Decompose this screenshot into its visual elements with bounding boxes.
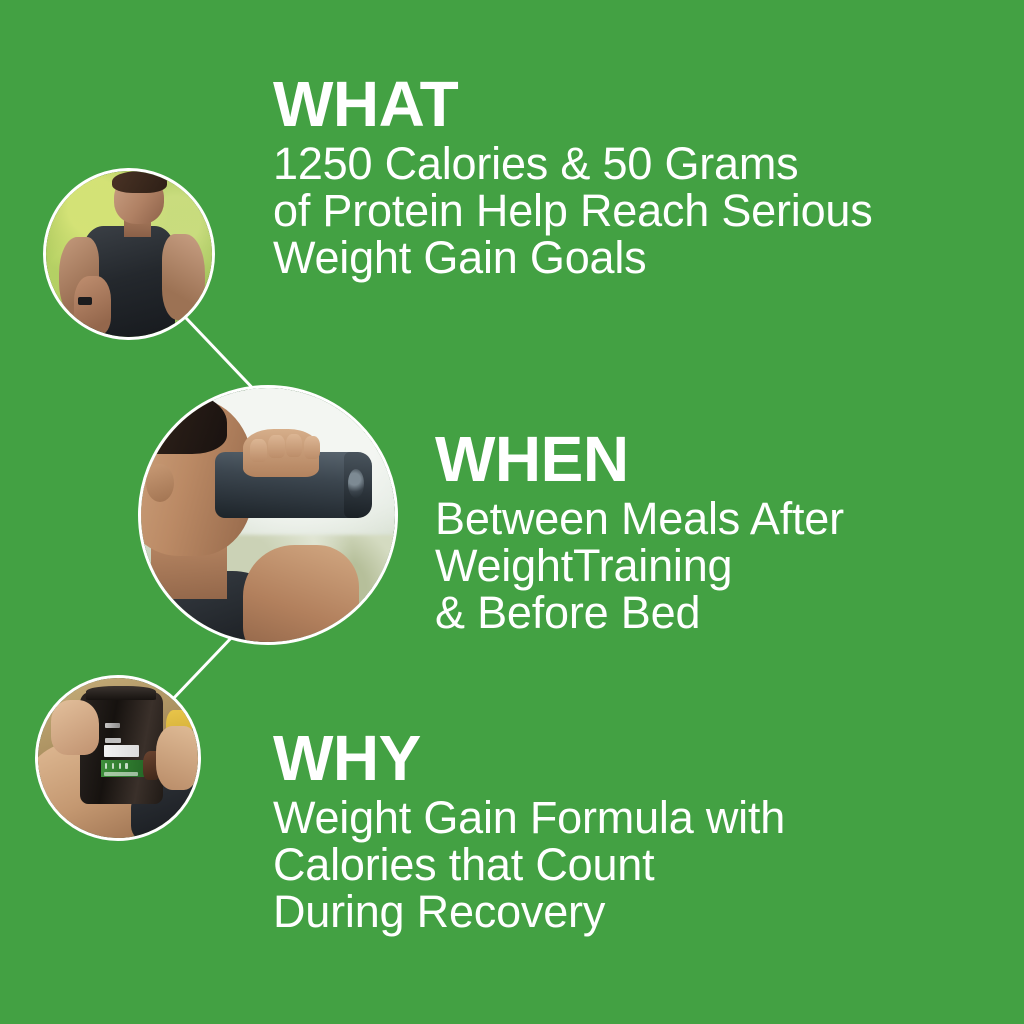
product-hand-right xyxy=(156,726,198,790)
product-hand-top xyxy=(51,700,99,754)
shaker-finger-3 xyxy=(286,434,303,457)
infographic-canvas: WHAT 1250 Calories & 50 Grams of Protein… xyxy=(0,0,1024,1024)
optimum-nutrition-logo xyxy=(105,723,120,729)
shaker-finger-2 xyxy=(268,435,285,458)
label-mass-text xyxy=(104,745,139,757)
product-photo xyxy=(35,675,201,841)
label-badge-3 xyxy=(119,763,122,769)
runner-forearm xyxy=(74,276,111,336)
label-flavor-bar xyxy=(104,772,139,775)
runner-hair xyxy=(112,171,167,193)
shaker-athlete-arm xyxy=(243,545,360,642)
what-line-2: of Protein Help Reach Serious xyxy=(273,187,873,234)
label-badge-4 xyxy=(125,763,128,769)
runner-right-arm xyxy=(162,234,205,320)
when-line-3: & Before Bed xyxy=(435,589,844,636)
product-photo-inner xyxy=(38,678,198,838)
runner-photo-inner xyxy=(46,171,212,337)
shaker-athlete-ear xyxy=(146,464,174,502)
what-line-1: 1250 Calories & 50 Grams xyxy=(273,140,873,187)
section-why: WHY Weight Gain Formula with Calories th… xyxy=(273,726,785,935)
runner-photo xyxy=(43,168,215,340)
section-what: WHAT 1250 Calories & 50 Grams of Protein… xyxy=(273,72,873,281)
shaker-photo xyxy=(138,385,398,645)
why-line-3: During Recovery xyxy=(273,888,785,935)
heading-when: WHEN xyxy=(435,427,844,491)
heading-what: WHAT xyxy=(273,72,873,136)
label-badge-2 xyxy=(112,763,115,769)
what-line-3: Weight Gain Goals xyxy=(273,234,873,281)
when-line-2: WeightTraining xyxy=(435,542,844,589)
label-green-band xyxy=(101,760,144,778)
why-line-1: Weight Gain Formula with xyxy=(273,794,785,841)
why-line-2: Calories that Count xyxy=(273,841,785,888)
when-line-1: Between Meals After xyxy=(435,495,844,542)
shaker-finger-4 xyxy=(304,436,321,459)
heading-why: WHY xyxy=(273,726,785,790)
label-serious-text xyxy=(105,738,122,742)
shaker-bottle-cap xyxy=(344,452,372,518)
shaker-photo-inner xyxy=(141,388,395,642)
runner-wristwatch xyxy=(78,297,93,305)
label-badge-1 xyxy=(105,763,108,769)
section-when: WHEN Between Meals After WeightTraining … xyxy=(435,427,844,636)
product-tub-lid xyxy=(86,686,156,700)
shaker-finger-1 xyxy=(250,439,267,462)
